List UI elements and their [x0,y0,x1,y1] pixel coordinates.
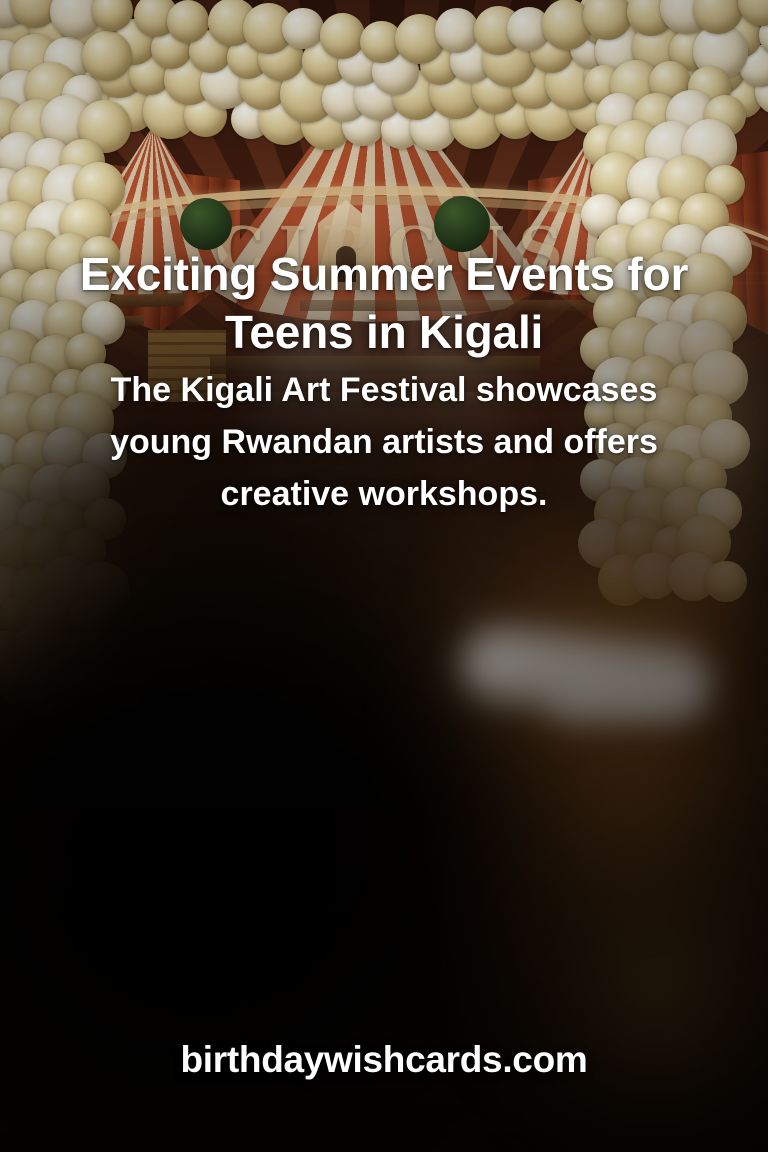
site-url-footer: birthdaywishcards.com [0,1036,768,1084]
pin-title: Exciting Summer Events for Teens in Kiga… [36,245,732,361]
text-overlay: Exciting Summer Events for Teens in Kiga… [0,0,768,1152]
pin-subtitle: The Kigali Art Festival showcases young … [70,364,698,520]
pinterest-pin-card: CIRCUS Ex [0,0,768,1152]
